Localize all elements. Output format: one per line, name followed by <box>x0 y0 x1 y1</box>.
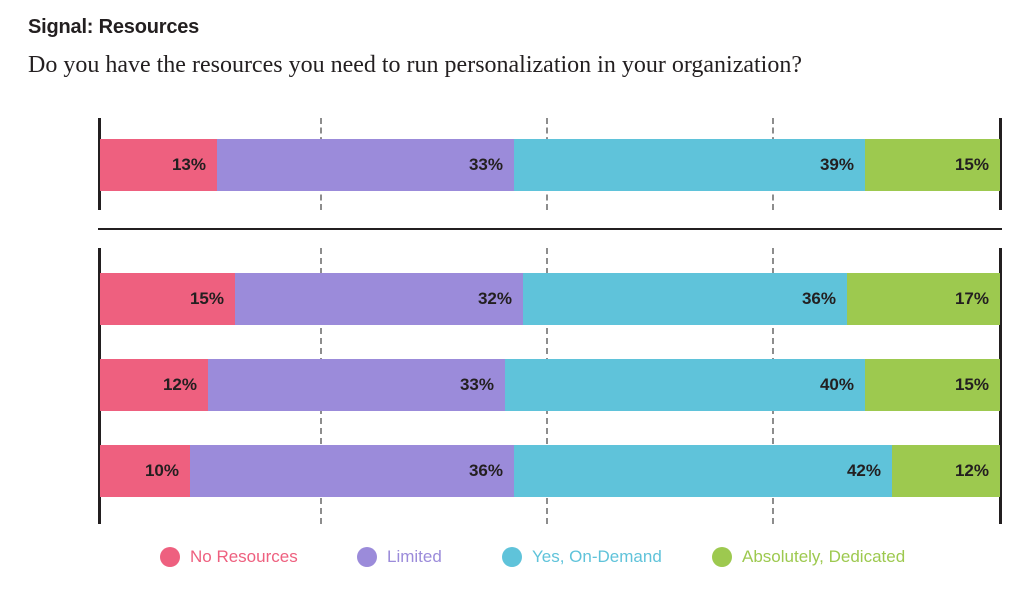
bar-track: 12%33%40%15% <box>100 359 1000 411</box>
bar-segment[interactable]: 15% <box>865 359 1000 411</box>
bar-segment[interactable]: 13% <box>100 139 217 191</box>
bar-segment-value: 10% <box>145 445 179 497</box>
bar-segment[interactable]: 15% <box>100 273 235 325</box>
legend-item[interactable]: Absolutely, Dedicated <box>712 540 905 574</box>
bar-segment[interactable]: 15% <box>865 139 1000 191</box>
bar-segment-value: 36% <box>469 445 503 497</box>
bar-segment[interactable]: 10% <box>100 445 190 497</box>
legend-item-label: Absolutely, Dedicated <box>742 547 905 567</box>
bar-segment-value: 13% <box>172 139 206 191</box>
bar-segment[interactable]: 33% <box>217 139 514 191</box>
bar-segment-value: 42% <box>847 445 881 497</box>
legend-item-label: Limited <box>387 547 442 567</box>
legend-item-label: No Resources <box>190 547 298 567</box>
legend-item[interactable]: Yes, On-Demand <box>502 540 662 574</box>
bar-track: 10%36%42%12% <box>100 445 1000 497</box>
legend-color-dot-icon <box>502 547 522 567</box>
bar-segment-value: 12% <box>955 445 989 497</box>
bar-segment-value: 15% <box>190 273 224 325</box>
bar-segment[interactable]: 42% <box>514 445 892 497</box>
bar-segment[interactable]: 36% <box>190 445 514 497</box>
bar-segment-value: 17% <box>955 273 989 325</box>
bar-segment[interactable]: 33% <box>208 359 505 411</box>
legend-color-dot-icon <box>160 547 180 567</box>
bar-segment-value: 39% <box>820 139 854 191</box>
legend-item-label: Yes, On-Demand <box>532 547 662 567</box>
bar-segment-value: 32% <box>478 273 512 325</box>
bar-track: 13%33%39%15% <box>100 139 1000 191</box>
group-separator <box>98 228 1002 230</box>
chart-legend: No ResourcesLimitedYes, On-DemandAbsolut… <box>0 540 1024 574</box>
page-title: Signal: Resources <box>28 16 199 39</box>
chart-subtitle: Do you have the resources you need to ru… <box>28 52 802 79</box>
legend-color-dot-icon <box>357 547 377 567</box>
legend-item[interactable]: No Resources <box>160 540 298 574</box>
bar-segment-value: 15% <box>955 139 989 191</box>
bar-segment-value: 33% <box>460 359 494 411</box>
bar-segment[interactable]: 12% <box>100 359 208 411</box>
bar-segment-value: 36% <box>802 273 836 325</box>
bar-segment-value: 40% <box>820 359 854 411</box>
bar-segment-value: 33% <box>469 139 503 191</box>
bar-segment[interactable]: 17% <box>847 273 1000 325</box>
bar-segment[interactable]: 40% <box>505 359 865 411</box>
legend-item[interactable]: Limited <box>357 540 442 574</box>
bar-segment-value: 15% <box>955 359 989 411</box>
legend-color-dot-icon <box>712 547 732 567</box>
bar-segment[interactable]: 39% <box>514 139 865 191</box>
bar-segment[interactable]: 36% <box>523 273 847 325</box>
bar-segment[interactable]: 12% <box>892 445 1000 497</box>
bar-segment-value: 12% <box>163 359 197 411</box>
bar-track: 15%32%36%17% <box>100 273 1000 325</box>
bar-segment[interactable]: 32% <box>235 273 523 325</box>
